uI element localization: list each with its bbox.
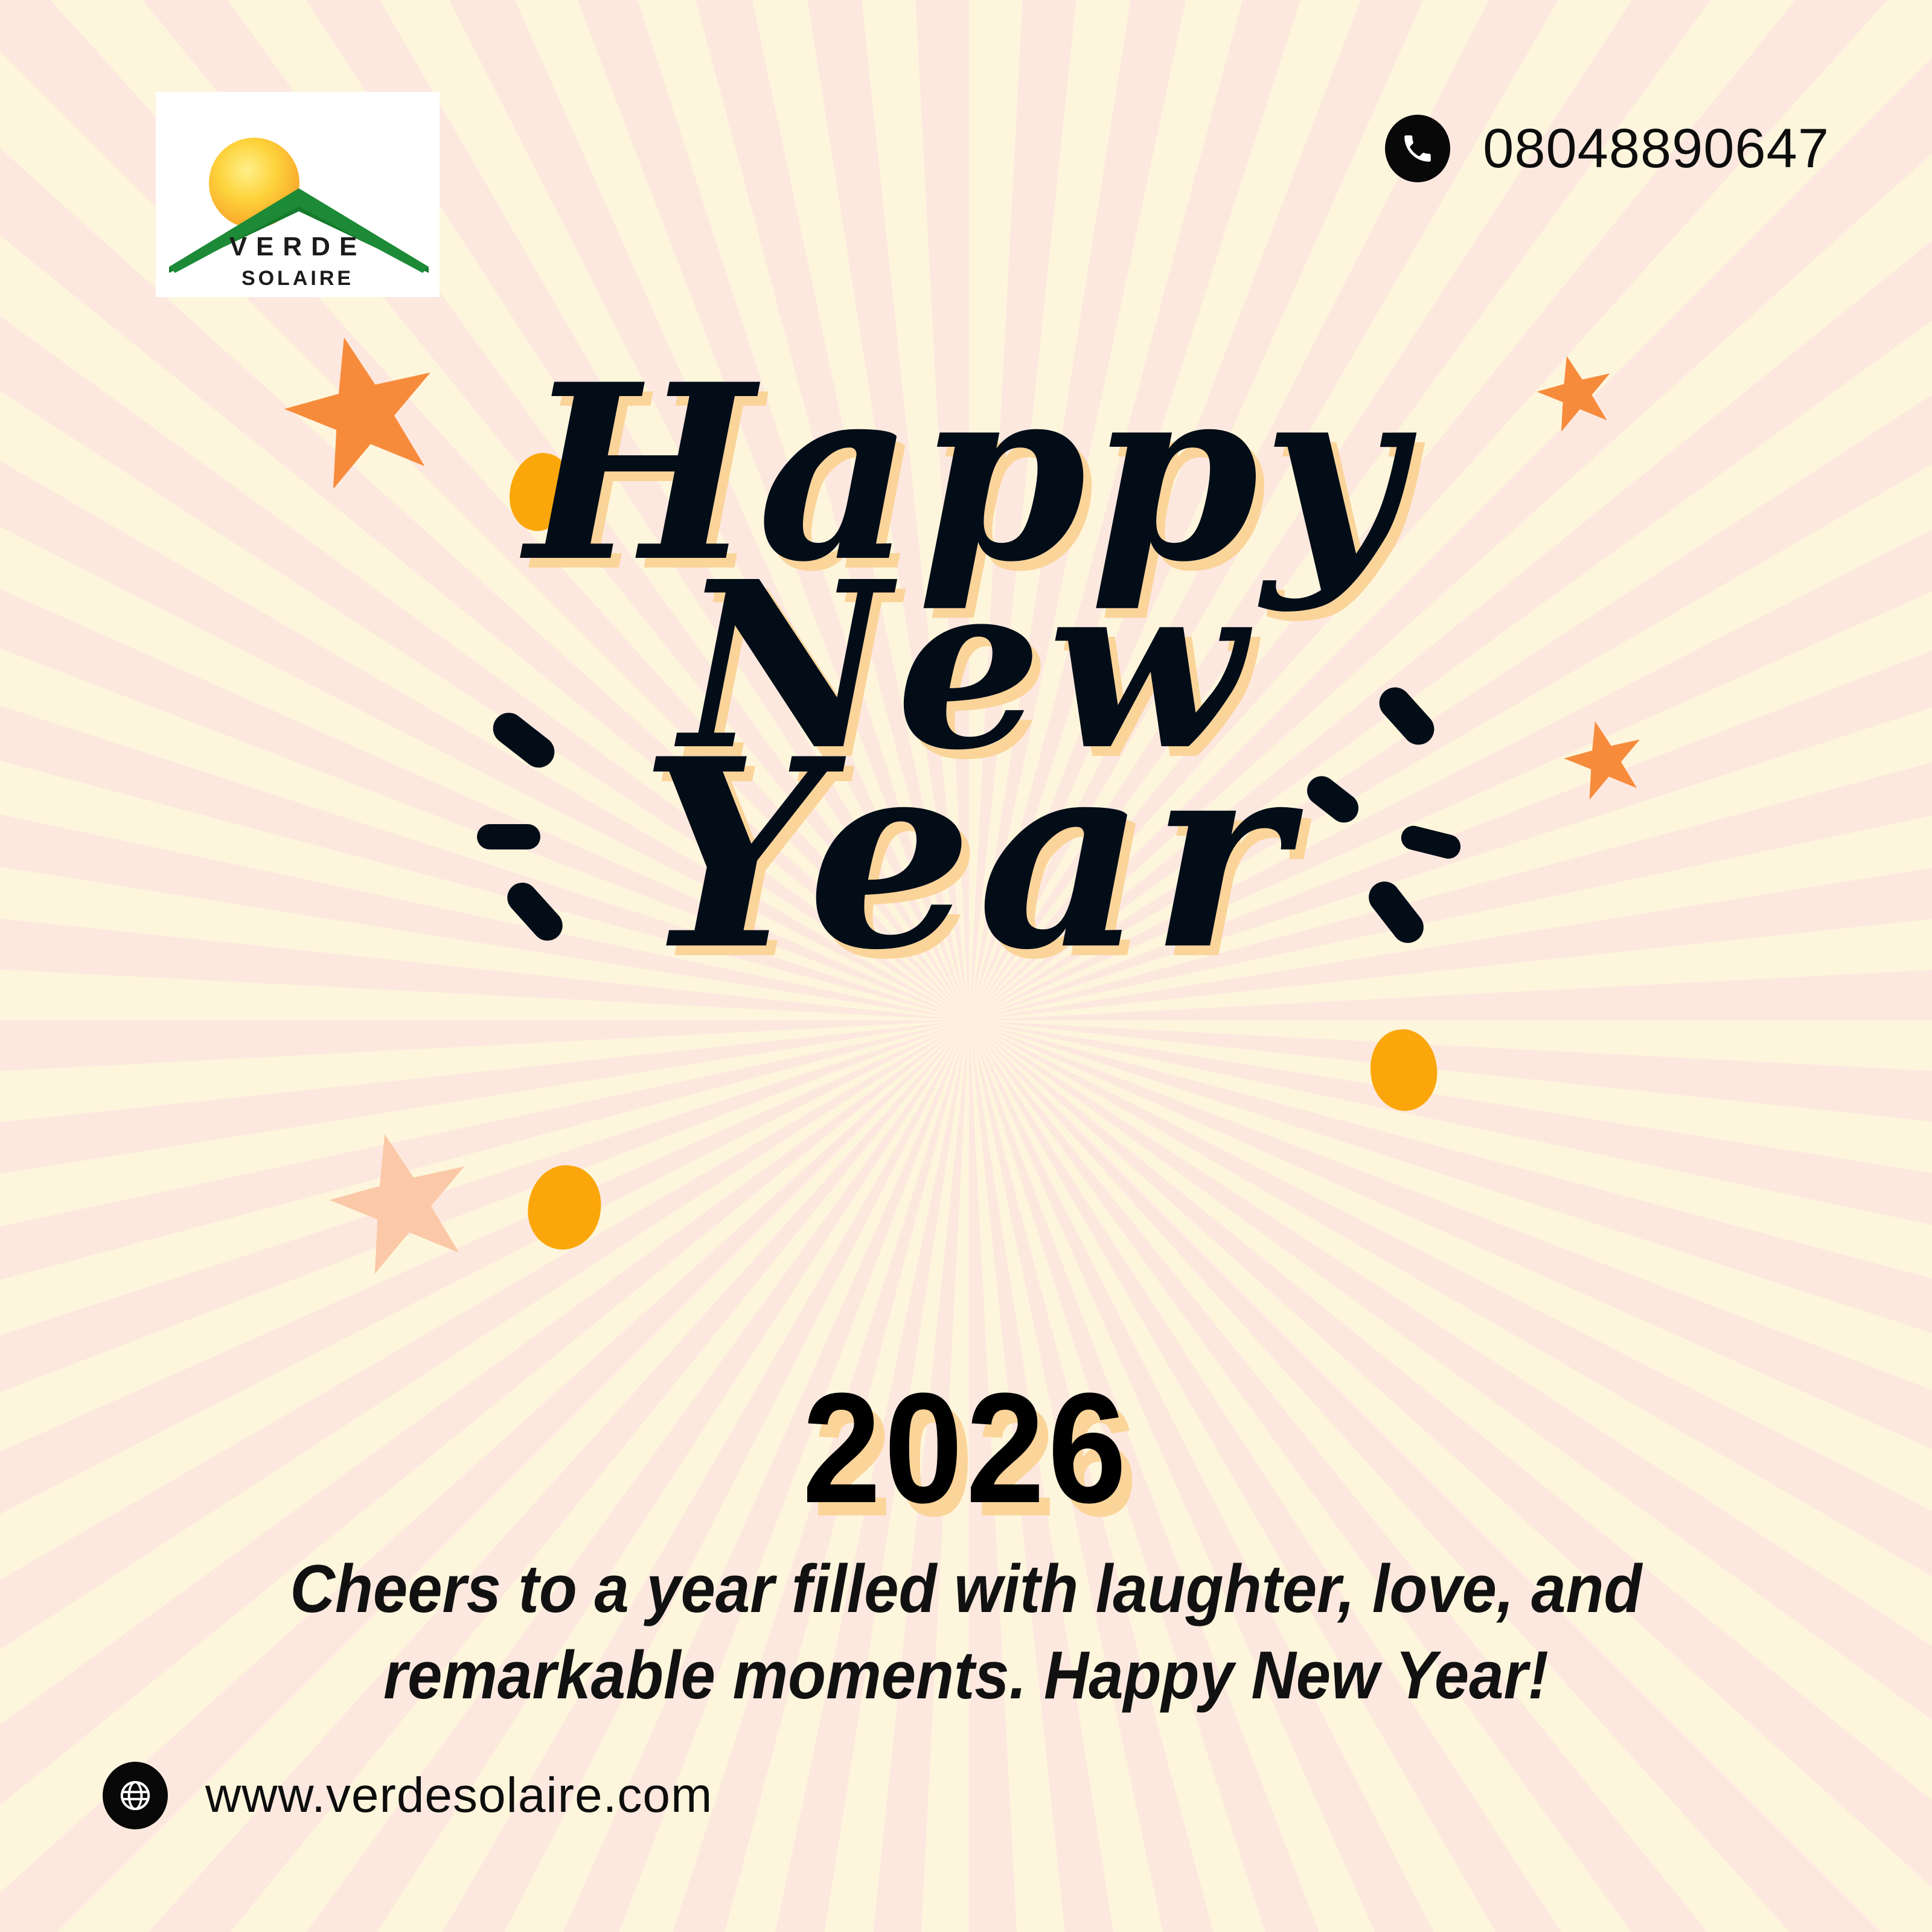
website-url: www.verdesolaire.com bbox=[205, 1767, 712, 1824]
phone-number: 08048890647 bbox=[1483, 117, 1829, 181]
globe-icon bbox=[103, 1762, 168, 1829]
year-number: 2026 bbox=[97, 1358, 1835, 1539]
tagline-line-2: remarkable moments. Happy New Year! bbox=[383, 1637, 1549, 1713]
sunburst-center-glow bbox=[924, 975, 1014, 1066]
tagline: Cheers to a year filled with laughter, l… bbox=[277, 1546, 1655, 1719]
logo-name-top: VERDE bbox=[156, 232, 440, 262]
logo-name-bottom: SOLAIRE bbox=[156, 267, 440, 290]
phone-icon bbox=[1385, 115, 1450, 182]
phone-contact[interactable]: 08048890647 bbox=[1385, 115, 1829, 182]
new-year-greeting-poster: VERDE SOLAIRE 08048890647 Happy New Year… bbox=[0, 0, 1932, 1932]
tagline-line-1: Cheers to a year filled with laughter, l… bbox=[290, 1551, 1642, 1627]
confetti-dash-2 bbox=[477, 824, 540, 849]
company-logo[interactable]: VERDE SOLAIRE bbox=[156, 92, 440, 297]
website-contact[interactable]: www.verdesolaire.com bbox=[103, 1762, 712, 1829]
